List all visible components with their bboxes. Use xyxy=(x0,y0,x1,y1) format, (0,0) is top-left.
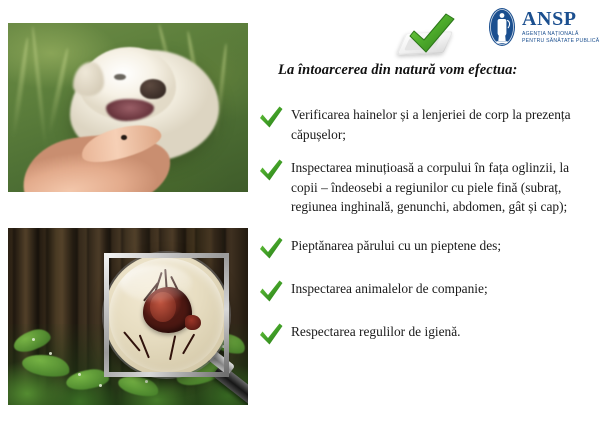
list-item: Pieptănarea părului cu un pieptene des; xyxy=(258,235,598,260)
green-check-icon xyxy=(258,105,284,129)
poster-canvas: ANSP AGENȚIA NAȚIONALĂ PENTRU SĂNĂTATE P… xyxy=(0,0,600,429)
logo-subtitle: AGENȚIA NAȚIONALĂ PENTRU SĂNĂTATE PUBLIC… xyxy=(522,31,599,45)
statue-emblem-icon xyxy=(487,6,517,48)
dog-eye xyxy=(114,74,126,81)
list-item-label: Pieptănarea părului cu un pieptene des; xyxy=(291,235,501,256)
list-item: Respectarea regulilor de igienă. xyxy=(258,321,598,346)
list-item-label: Verificarea hainelor și a lenjeriei de c… xyxy=(291,104,598,144)
checklist: Verificarea hainelor și a lenjeriei de c… xyxy=(258,104,598,359)
list-item: Inspectarea minuțioasă a corpului în faț… xyxy=(258,157,598,217)
magnifying-glass xyxy=(104,253,229,377)
green-check-icon xyxy=(258,322,284,346)
page-title: La întoarcerea din natură vom efectua: xyxy=(278,62,588,79)
green-check-icon xyxy=(258,279,284,303)
logo-text-block: ANSP AGENȚIA NAȚIONALĂ PENTRU SĂNĂTATE P… xyxy=(522,9,599,45)
photo-dog-with-tick-on-finger xyxy=(8,23,248,192)
list-item: Verificarea hainelor și a lenjeriei de c… xyxy=(258,104,598,144)
dog-nose xyxy=(140,79,166,99)
green-check-icon xyxy=(258,158,284,182)
list-item-label: Inspectarea animalelor de companie; xyxy=(291,278,488,299)
list-item-label: Respectarea regulilor de igienă. xyxy=(291,321,461,342)
hero-check-glyph xyxy=(404,12,460,54)
photo-tick-under-magnifier xyxy=(8,228,248,405)
ansp-logo: ANSP AGENȚIA NAȚIONALĂ PENTRU SĂNĂTATE P… xyxy=(487,4,597,50)
tick-head xyxy=(185,315,201,330)
lens-glare xyxy=(120,265,191,301)
logo-title: ANSP xyxy=(522,9,599,29)
green-check-icon xyxy=(258,236,284,260)
logo-subtitle-line2: PENTRU SĂNĂTATE PUBLICĂ xyxy=(522,38,599,45)
green-checkmark-box-icon xyxy=(398,12,460,56)
list-item: Inspectarea animalelor de companie; xyxy=(258,278,598,303)
logo-subtitle-line1: AGENȚIA NAȚIONALĂ xyxy=(522,31,599,38)
list-item-label: Inspectarea minuțioasă a corpului în faț… xyxy=(291,157,598,217)
magnifier-lens xyxy=(104,253,229,377)
